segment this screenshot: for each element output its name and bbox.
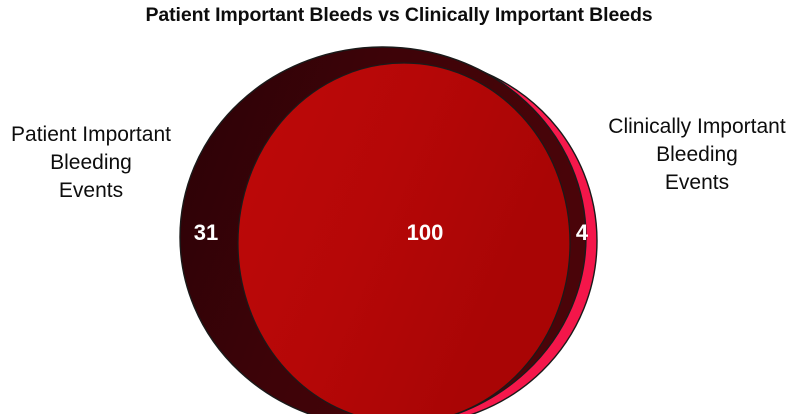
region-count-intersection: 100: [376, 220, 474, 246]
region-count-left-only: 31: [182, 220, 230, 246]
venn-diagram: 31 100 4: [0, 0, 798, 414]
set-label-patient-important: Patient Important Bleeding Events: [0, 121, 186, 205]
region-count-right-only: 4: [565, 220, 599, 246]
set-label-clinically-important: Clinically Important Bleeding Events: [594, 113, 798, 197]
venn-svg: [0, 0, 798, 414]
